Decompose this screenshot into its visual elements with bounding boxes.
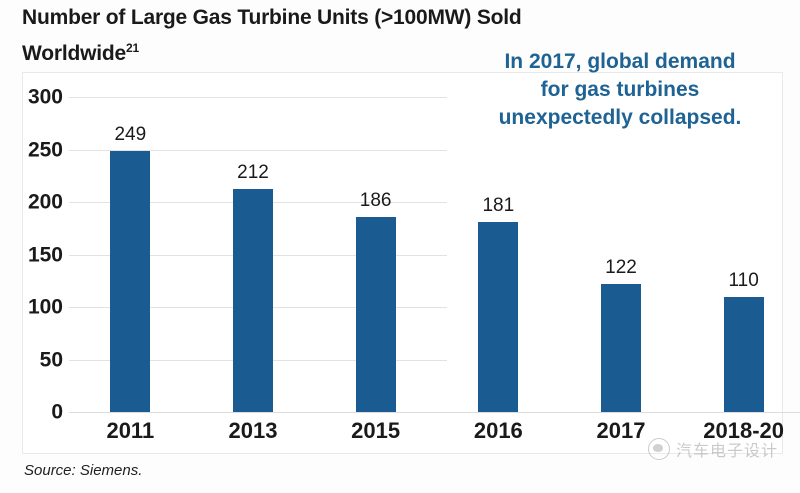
bar-value-label-2018-20: 110 xyxy=(709,271,779,290)
x-axis-tick-2013: 2013 xyxy=(193,420,313,442)
slide-canvas: Number of Large Gas Turbine Units (>100M… xyxy=(0,0,800,493)
bar-2015[interactable] xyxy=(356,217,396,412)
page-title-line-2-text: Worldwide xyxy=(22,42,126,65)
y-axis-tick-50: 50 xyxy=(23,349,63,370)
y-axis-tick-0: 0 xyxy=(23,402,63,423)
x-axis-tick-2011: 2011 xyxy=(70,420,190,442)
page-title-line-1: Number of Large Gas Turbine Units (>100M… xyxy=(22,6,522,29)
source-note: Source: Siemens. xyxy=(24,462,142,479)
footnote-superscript: 21 xyxy=(126,41,139,55)
y-axis-tick-250: 250 xyxy=(23,139,63,160)
bar-2013[interactable] xyxy=(233,189,273,412)
callout-line-3: unexpectedly collapsed. xyxy=(455,104,785,132)
bar-value-label-2013: 212 xyxy=(218,163,288,182)
callout-annotation: In 2017, global demand for gas turbines … xyxy=(455,48,785,132)
bar-value-label-2011: 249 xyxy=(95,125,165,144)
bar-2011[interactable] xyxy=(110,151,150,412)
x-axis-tick-2015: 2015 xyxy=(316,420,436,442)
bar-2016[interactable] xyxy=(478,222,518,412)
gridline-0 xyxy=(69,412,800,413)
bar-value-label-2017: 122 xyxy=(586,258,656,277)
bar-value-label-2016: 181 xyxy=(463,196,533,215)
y-axis-tick-200: 200 xyxy=(23,192,63,213)
callout-line-1: In 2017, global demand xyxy=(455,48,785,76)
bar-2017[interactable] xyxy=(601,284,641,412)
bar-value-label-2015: 186 xyxy=(341,191,411,210)
gridline-300 xyxy=(69,97,447,98)
x-axis-tick-2016: 2016 xyxy=(438,420,558,442)
y-axis-tick-150: 150 xyxy=(23,244,63,265)
callout-line-2: for gas turbines xyxy=(455,76,785,104)
y-axis-tick-300: 300 xyxy=(23,87,63,108)
y-axis-tick-100: 100 xyxy=(23,297,63,318)
x-axis-tick-2017: 2017 xyxy=(561,420,681,442)
x-axis-tick-2018-20: 2018-20 xyxy=(684,420,800,442)
bar-2018-20[interactable] xyxy=(724,297,764,413)
